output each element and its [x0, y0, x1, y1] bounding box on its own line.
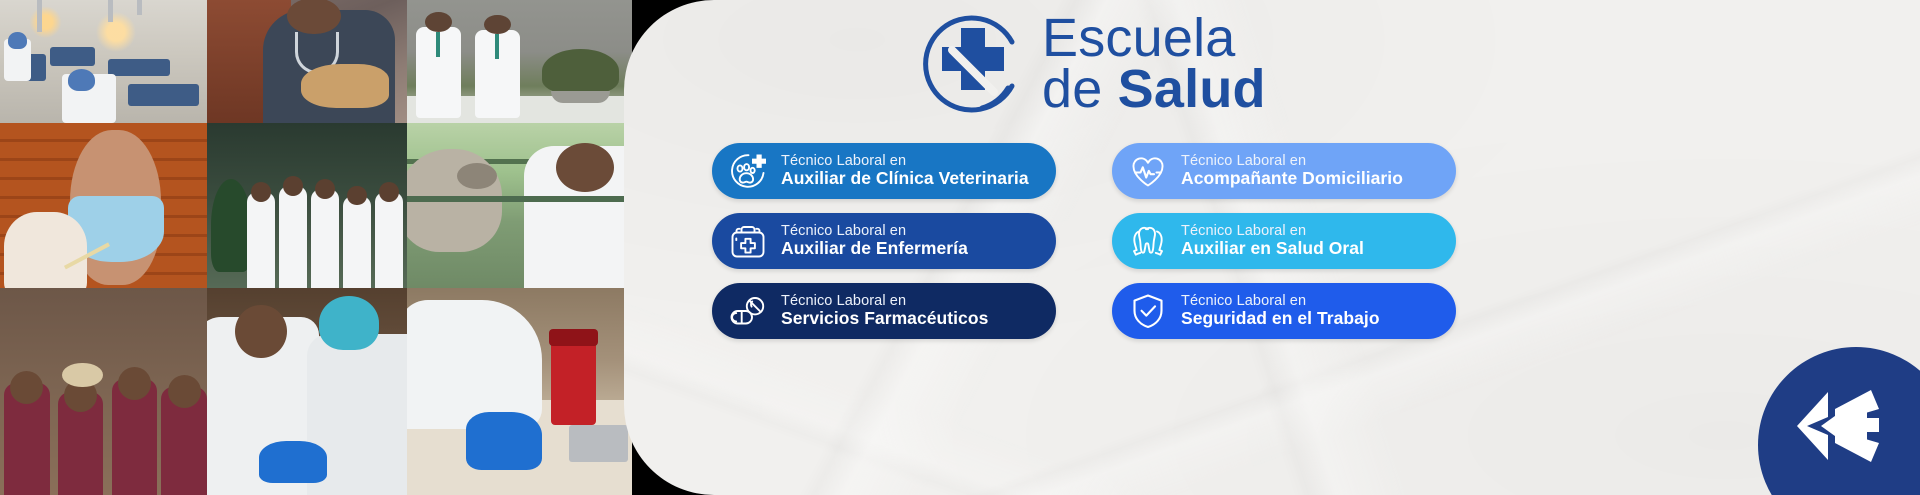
logo-line-de-salud: de Salud [1042, 64, 1266, 115]
program-title: Seguridad en el Trabajo [1181, 309, 1380, 328]
logo-word-de: de [1042, 59, 1118, 119]
program-title: Servicios Farmacéuticos [781, 309, 988, 328]
paw-medical-cross-icon [728, 151, 768, 191]
program-pill-seguridad-en-el-trabajo[interactable]: Técnico Laboral en Seguridad en el Traba… [1112, 283, 1456, 339]
program-eyebrow: Técnico Laboral en [1181, 154, 1403, 169]
masked-student-swab-photo [0, 123, 207, 288]
students-selfie-photo [0, 288, 207, 495]
pill-capsule-icon [728, 291, 768, 331]
content-panel: Escuela de Salud [624, 0, 1920, 495]
lab-students-photo [207, 288, 407, 495]
nursing-students-garden-photo [407, 0, 632, 123]
corner-badge [1758, 347, 1920, 495]
program-title: Auxiliar de Clínica Veterinaria [781, 169, 1029, 188]
program-eyebrow: Técnico Laboral en [781, 154, 1029, 169]
brand-logo: Escuela de Salud [920, 12, 1266, 116]
program-title: Auxiliar en Salud Oral [1181, 239, 1364, 258]
medical-cross-circle-icon [920, 12, 1024, 116]
program-title: Acompañante Domiciliario [1181, 169, 1403, 188]
program-eyebrow: Técnico Laboral en [781, 294, 988, 309]
program-pill-acompanante-domiciliario[interactable]: Técnico Laboral en Acompañante Domicilia… [1112, 143, 1456, 199]
dental-clinic-photo [0, 0, 207, 123]
program-eyebrow: Técnico Laboral en [1181, 224, 1364, 239]
escuela-de-salud-banner: Escuela de Salud [0, 0, 1920, 495]
program-pill-auxiliar-clinica-veterinaria[interactable]: Técnico Laboral en Auxiliar de Clínica V… [712, 143, 1056, 199]
photo-collage [0, 0, 632, 495]
student-group-photo [207, 123, 407, 288]
logo-word-salud: Salud [1118, 59, 1266, 119]
tooth-hands-icon [1128, 221, 1168, 261]
lab-bench-gloves-photo [407, 288, 632, 495]
veterinary-cat-photo [207, 0, 407, 123]
program-pill-auxiliar-enfermeria[interactable]: Técnico Laboral en Auxiliar de Enfermerí… [712, 213, 1056, 269]
program-pill-servicios-farmaceuticos[interactable]: Técnico Laboral en Servicios Farmacéutic… [712, 283, 1056, 339]
program-pill-auxiliar-salud-oral[interactable]: Técnico Laboral en Auxiliar en Salud Ora… [1112, 213, 1456, 269]
logo-line-escuela: Escuela [1042, 13, 1266, 64]
program-eyebrow: Técnico Laboral en [1181, 294, 1380, 309]
veterinary-dog-fence-photo [407, 123, 632, 288]
ke-arrow-logo-icon [1795, 421, 1917, 470]
heart-heartbeat-icon [1128, 151, 1168, 191]
first-aid-kit-icon [728, 221, 768, 261]
program-title: Auxiliar de Enfermería [781, 239, 968, 258]
shield-check-icon [1128, 291, 1168, 331]
program-eyebrow: Técnico Laboral en [781, 224, 968, 239]
program-list: Técnico Laboral en Auxiliar de Clínica V… [712, 143, 1456, 339]
